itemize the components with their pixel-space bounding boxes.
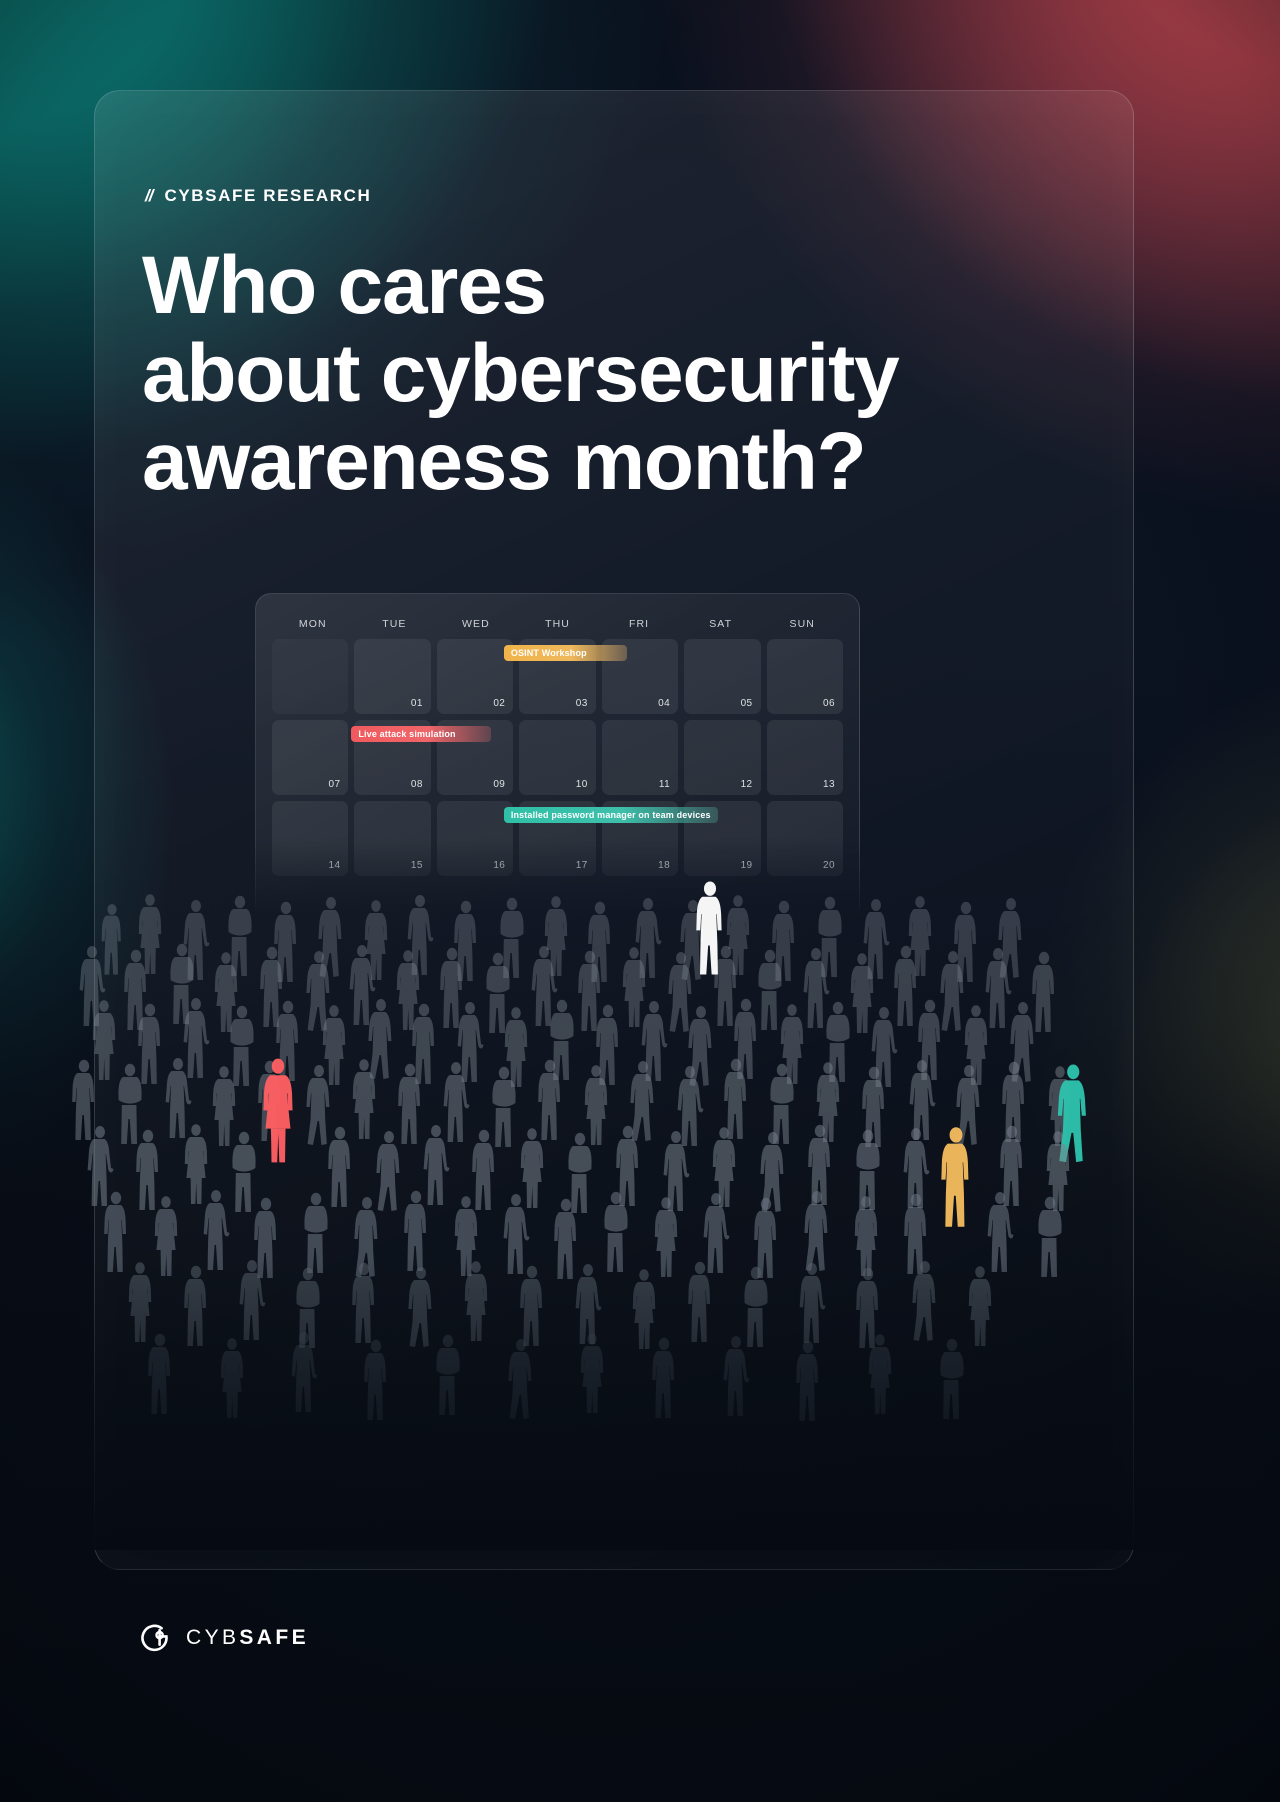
calendar-day-cell[interactable]: 01 [354,639,430,714]
calendar-day-cell[interactable]: 06 [767,639,843,714]
day-number: 13 [823,779,835,790]
day-number: 01 [411,698,423,709]
day-number: 15 [411,860,423,871]
cybsafe-logo[interactable]: CYB SAFE [140,1622,309,1654]
day-header-sat: SAT [680,618,762,630]
calendar-week-3: 14 15 16 17 18 19 20 Installed password … [272,801,843,876]
day-number: 20 [823,860,835,871]
day-header-thu: THU [517,618,599,630]
calendar-week-2: 07 08 09 10 11 12 13 Live attack simulat… [272,720,843,795]
headline-line-3: awareness month? [142,418,1022,506]
day-number: 14 [328,860,340,871]
calendar-day-cell[interactable]: 13 [767,720,843,795]
calendar-grid: 01 02 03 04 05 06 OSINT Workshop 07 08 0… [272,639,843,876]
day-number: 18 [658,860,670,871]
calendar-day-cell[interactable]: 12 [684,720,760,795]
day-header-tue: TUE [354,618,436,630]
calendar-day-cell[interactable]: 20 [767,801,843,876]
calendar-day-cell[interactable]: 16 [437,801,513,876]
calendar-day-headers: MON TUE WED THU FRI SAT SUN [272,618,843,630]
slashes-icon: // [145,186,152,206]
cybsafe-c-mark-icon [140,1622,172,1654]
eyebrow-label: CYBSAFE RESEARCH [164,186,371,206]
day-number: 07 [328,779,340,790]
day-number: 03 [576,698,588,709]
crowd-illustration [0,830,1280,1550]
calendar-event-live-attack-simulation[interactable]: Live attack simulation [351,726,491,742]
calendar-day-cell[interactable]: 05 [684,639,760,714]
calendar-day-cell[interactable]: 14 [272,801,348,876]
calendar-day-cell[interactable]: 10 [519,720,595,795]
day-header-wed: WED [435,618,517,630]
day-number: 06 [823,698,835,709]
calendar-event-installed-password-manager[interactable]: Installed password manager on team devic… [504,807,718,823]
day-number: 05 [741,698,753,709]
day-header-mon: MON [272,618,354,630]
day-number: 12 [741,779,753,790]
day-number: 17 [576,860,588,871]
wordmark-safe: SAFE [239,1626,309,1650]
calendar-widget[interactable]: MON TUE WED THU FRI SAT SUN 01 02 03 04 … [255,593,860,923]
day-number: 09 [493,779,505,790]
cybsafe-wordmark: CYB SAFE [186,1626,309,1650]
wordmark-cyb: CYB [186,1626,239,1650]
day-header-fri: FRI [598,618,680,630]
day-header-sun: SUN [761,618,843,630]
day-number: 02 [493,698,505,709]
day-number: 11 [659,779,670,790]
day-number: 19 [741,860,753,871]
calendar-day-cell[interactable]: 11 [602,720,678,795]
day-number: 04 [658,698,670,709]
headline-line-2: about cybersecurity [142,330,1022,418]
poster-canvas: // CYBSAFE RESEARCH Who cares about cybe… [0,0,1280,1802]
calendar-day-cell[interactable]: 02 [437,639,513,714]
day-number: 16 [493,860,505,871]
calendar-event-osint-workshop[interactable]: OSINT Workshop [504,645,627,661]
crowd-highlight-amber [941,1127,968,1226]
day-number: 10 [576,779,588,790]
headline-line-1: Who cares [142,242,1022,330]
calendar-day-cell[interactable]: 15 [354,801,430,876]
calendar-day-cell[interactable]: 07 [272,720,348,795]
page-title: Who cares about cybersecurity awareness … [142,242,1022,506]
calendar-week-1: 01 02 03 04 05 06 OSINT Workshop [272,639,843,714]
eyebrow: // CYBSAFE RESEARCH [145,186,371,206]
day-number: 08 [411,779,423,790]
calendar-day-cell[interactable] [272,639,348,714]
